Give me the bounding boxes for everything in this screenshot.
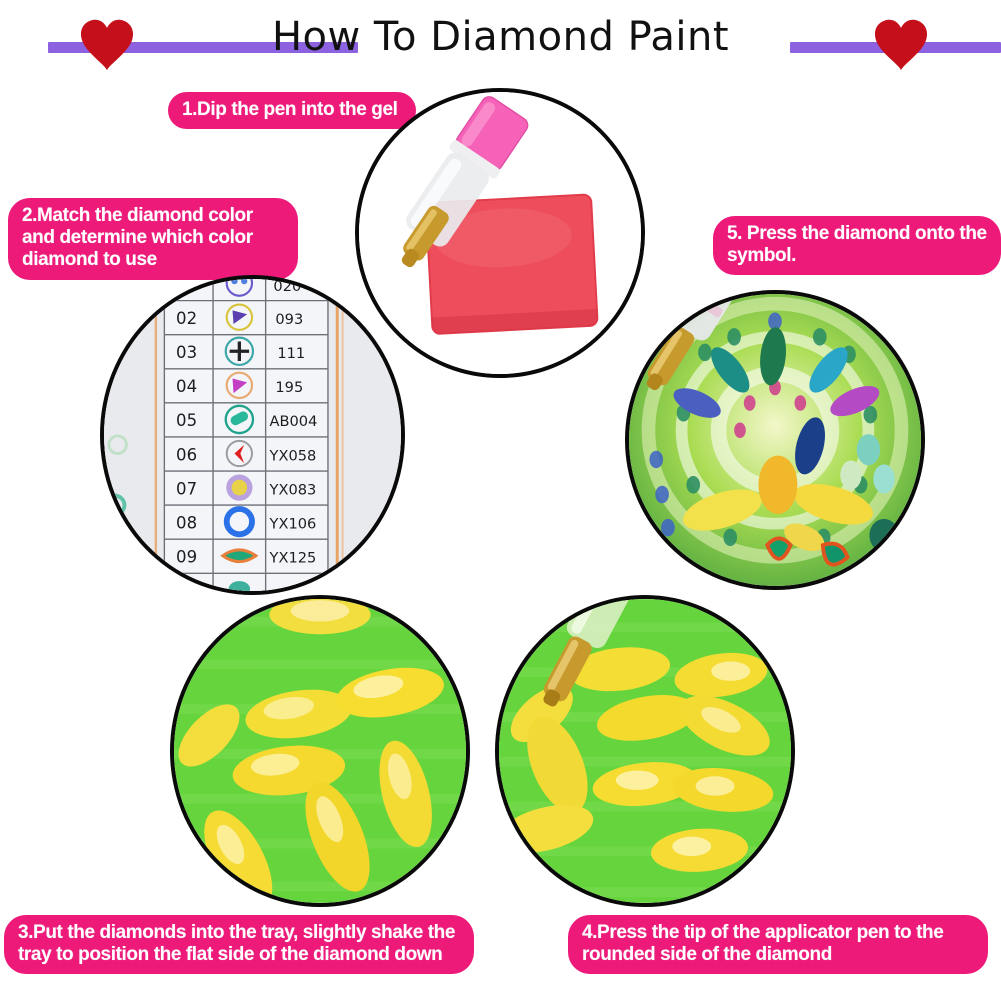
svg-text:03: 03: [176, 343, 197, 362]
svg-text:YX058: YX058: [269, 447, 317, 464]
step-2-caption: 2.Match the diamond color and determine …: [8, 198, 298, 280]
photo-color-chart: 0203 0405 0607 0809 020 093111 195AB004 …: [100, 275, 405, 595]
svg-text:YX083: YX083: [269, 481, 317, 498]
page-title: How To Diamond Paint: [0, 14, 1001, 60]
page-header: How To Diamond Paint: [0, 0, 1001, 80]
svg-text:YX106: YX106: [269, 515, 317, 532]
svg-text:AB004: AB004: [270, 413, 318, 430]
svg-text:02: 02: [176, 309, 197, 328]
step-3-caption: 3.Put the diamonds into the tray, slight…: [4, 915, 474, 974]
svg-text:05: 05: [176, 411, 197, 430]
svg-text:111: 111: [277, 345, 305, 362]
photo-diamonds-in-tray: [170, 595, 470, 907]
svg-text:093: 093: [275, 311, 303, 328]
step-4-caption: 4.Press the tip of the applicator pen to…: [568, 915, 988, 974]
photo-pen-picks-diamond: [495, 595, 795, 907]
svg-text:195: 195: [275, 379, 303, 396]
step-5-caption: 5. Press the diamond onto the symbol.: [713, 216, 1001, 275]
svg-text:06: 06: [176, 445, 197, 464]
photo-press-onto-symbol: [625, 290, 925, 590]
svg-text:04: 04: [176, 377, 197, 396]
photo-pen-in-gel: [355, 88, 645, 378]
svg-text:09: 09: [176, 548, 197, 567]
svg-text:YX125: YX125: [269, 550, 317, 567]
step-1-caption: 1.Dip the pen into the gel: [168, 92, 416, 129]
svg-text:020: 020: [273, 279, 301, 295]
svg-text:07: 07: [176, 479, 197, 498]
svg-text:08: 08: [176, 513, 197, 532]
